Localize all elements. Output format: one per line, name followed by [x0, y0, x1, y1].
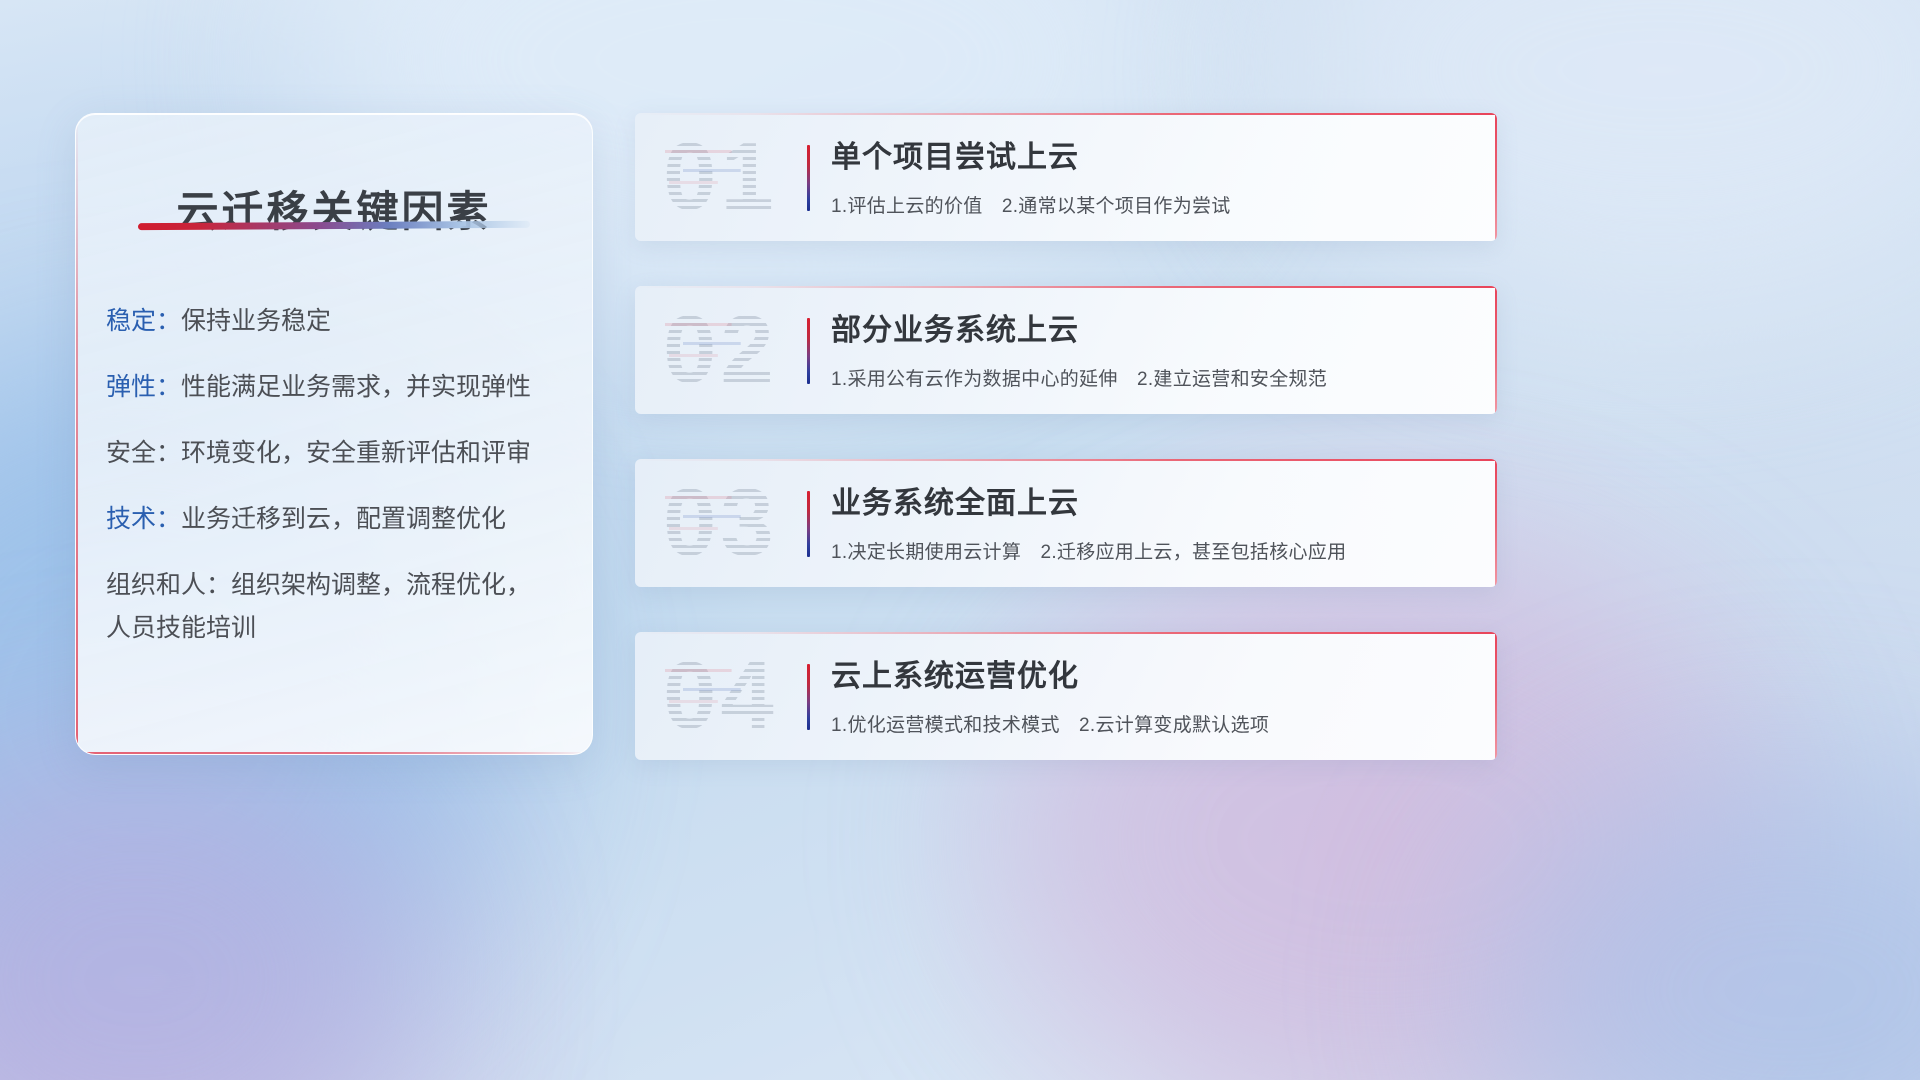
factor-label: 组织和人： — [106, 571, 231, 599]
card-top-accent-rule — [635, 632, 1497, 634]
card-right-accent-rule — [1495, 459, 1497, 587]
factor-label: 安全： — [106, 439, 181, 467]
factor-text: 性能满足业务需求，并实现弹性 — [181, 373, 531, 401]
migration-stages-list: 01 单个项目尝试上云 1.评估上云的价值 2.通常以某个项目作为尝试 02 部… — [635, 113, 1497, 760]
stage-number-watermark: 04 — [663, 648, 778, 744]
factor-label: 技术： — [106, 505, 181, 533]
stage-number-watermark: 01 — [663, 129, 778, 225]
card-right-accent-rule — [1495, 632, 1497, 760]
stage-accent-bar — [807, 318, 810, 384]
stage-heading: 单个项目尝试上云 — [831, 139, 1473, 177]
card-top-accent-rule — [635, 113, 1497, 115]
factor-text-continuation: 人员技能培训 — [106, 608, 572, 644]
factor-text: 组织架构调整，流程优化， — [231, 571, 531, 599]
stage-card-body: 云上系统运营优化 1.优化运营模式和技术模式 2.云计算变成默认选项 — [831, 658, 1473, 737]
stage-card-body: 单个项目尝试上云 1.评估上云的价值 2.通常以某个项目作为尝试 — [831, 139, 1473, 218]
card-top-accent-rule — [635, 459, 1497, 461]
stage-heading: 部分业务系统上云 — [831, 312, 1473, 350]
stage-card-03[interactable]: 03 业务系统全面上云 1.决定长期使用云计算 2.迁移应用上云，甚至包括核心应… — [635, 459, 1497, 587]
key-factors-list: 稳定：保持业务稳定 弹性：性能满足业务需求，并实现弹性 安全：环境变化，安全重新… — [106, 306, 572, 644]
list-item: 技术：业务迁移到云，配置调整优化 — [106, 504, 572, 534]
stage-card-01[interactable]: 01 单个项目尝试上云 1.评估上云的价值 2.通常以某个项目作为尝试 — [635, 113, 1497, 241]
stage-description: 1.采用公有云作为数据中心的延伸 2.建立运营和安全规范 — [831, 364, 1473, 391]
factor-label: 稳定： — [106, 307, 181, 335]
card-right-accent-rule — [1495, 286, 1497, 414]
stage-number-watermark: 02 — [663, 302, 778, 398]
slide-canvas: 云迁移关键因素 稳定：保持业务稳定 弹性：性能满足业务需求，并实现弹性 安全：环… — [0, 0, 1920, 1080]
background-blob-bottom-left — [0, 740, 420, 1080]
background-blob-bottom-right — [1480, 760, 1920, 1080]
stage-card-02[interactable]: 02 部分业务系统上云 1.采用公有云作为数据中心的延伸 2.建立运营和安全规范 — [635, 286, 1497, 414]
card-right-accent-rule — [1495, 113, 1497, 241]
stage-card-body: 业务系统全面上云 1.决定长期使用云计算 2.迁移应用上云，甚至包括核心应用 — [831, 485, 1473, 564]
list-item: 稳定：保持业务稳定 — [106, 306, 572, 336]
stage-description: 1.决定长期使用云计算 2.迁移应用上云，甚至包括核心应用 — [831, 537, 1473, 564]
stage-card-04[interactable]: 04 云上系统运营优化 1.优化运营模式和技术模式 2.云计算变成默认选项 — [635, 632, 1497, 760]
stage-accent-bar — [807, 145, 810, 211]
list-item: 组织和人：组织架构调整，流程优化， — [106, 570, 572, 600]
key-factors-panel: 云迁移关键因素 稳定：保持业务稳定 弹性：性能满足业务需求，并实现弹性 安全：环… — [75, 113, 593, 755]
stage-description: 1.评估上云的价值 2.通常以某个项目作为尝试 — [831, 191, 1473, 218]
list-item: 弹性：性能满足业务需求，并实现弹性 — [106, 372, 572, 402]
factor-text: 环境变化，安全重新评估和评审 — [181, 439, 531, 467]
stage-heading: 云上系统运营优化 — [831, 658, 1473, 696]
list-item: 安全：环境变化，安全重新评估和评审 — [106, 438, 572, 468]
stage-description: 1.优化运营模式和技术模式 2.云计算变成默认选项 — [831, 710, 1473, 737]
stage-accent-bar — [807, 664, 810, 730]
stage-accent-bar — [807, 491, 810, 557]
factor-text: 业务迁移到云，配置调整优化 — [181, 505, 506, 533]
card-top-accent-rule — [635, 286, 1497, 288]
stage-number-watermark: 03 — [663, 475, 778, 571]
factor-label: 弹性： — [106, 373, 181, 401]
stage-heading: 业务系统全面上云 — [831, 485, 1473, 523]
factor-text: 保持业务稳定 — [181, 307, 331, 335]
stage-card-body: 部分业务系统上云 1.采用公有云作为数据中心的延伸 2.建立运营和安全规范 — [831, 312, 1473, 391]
